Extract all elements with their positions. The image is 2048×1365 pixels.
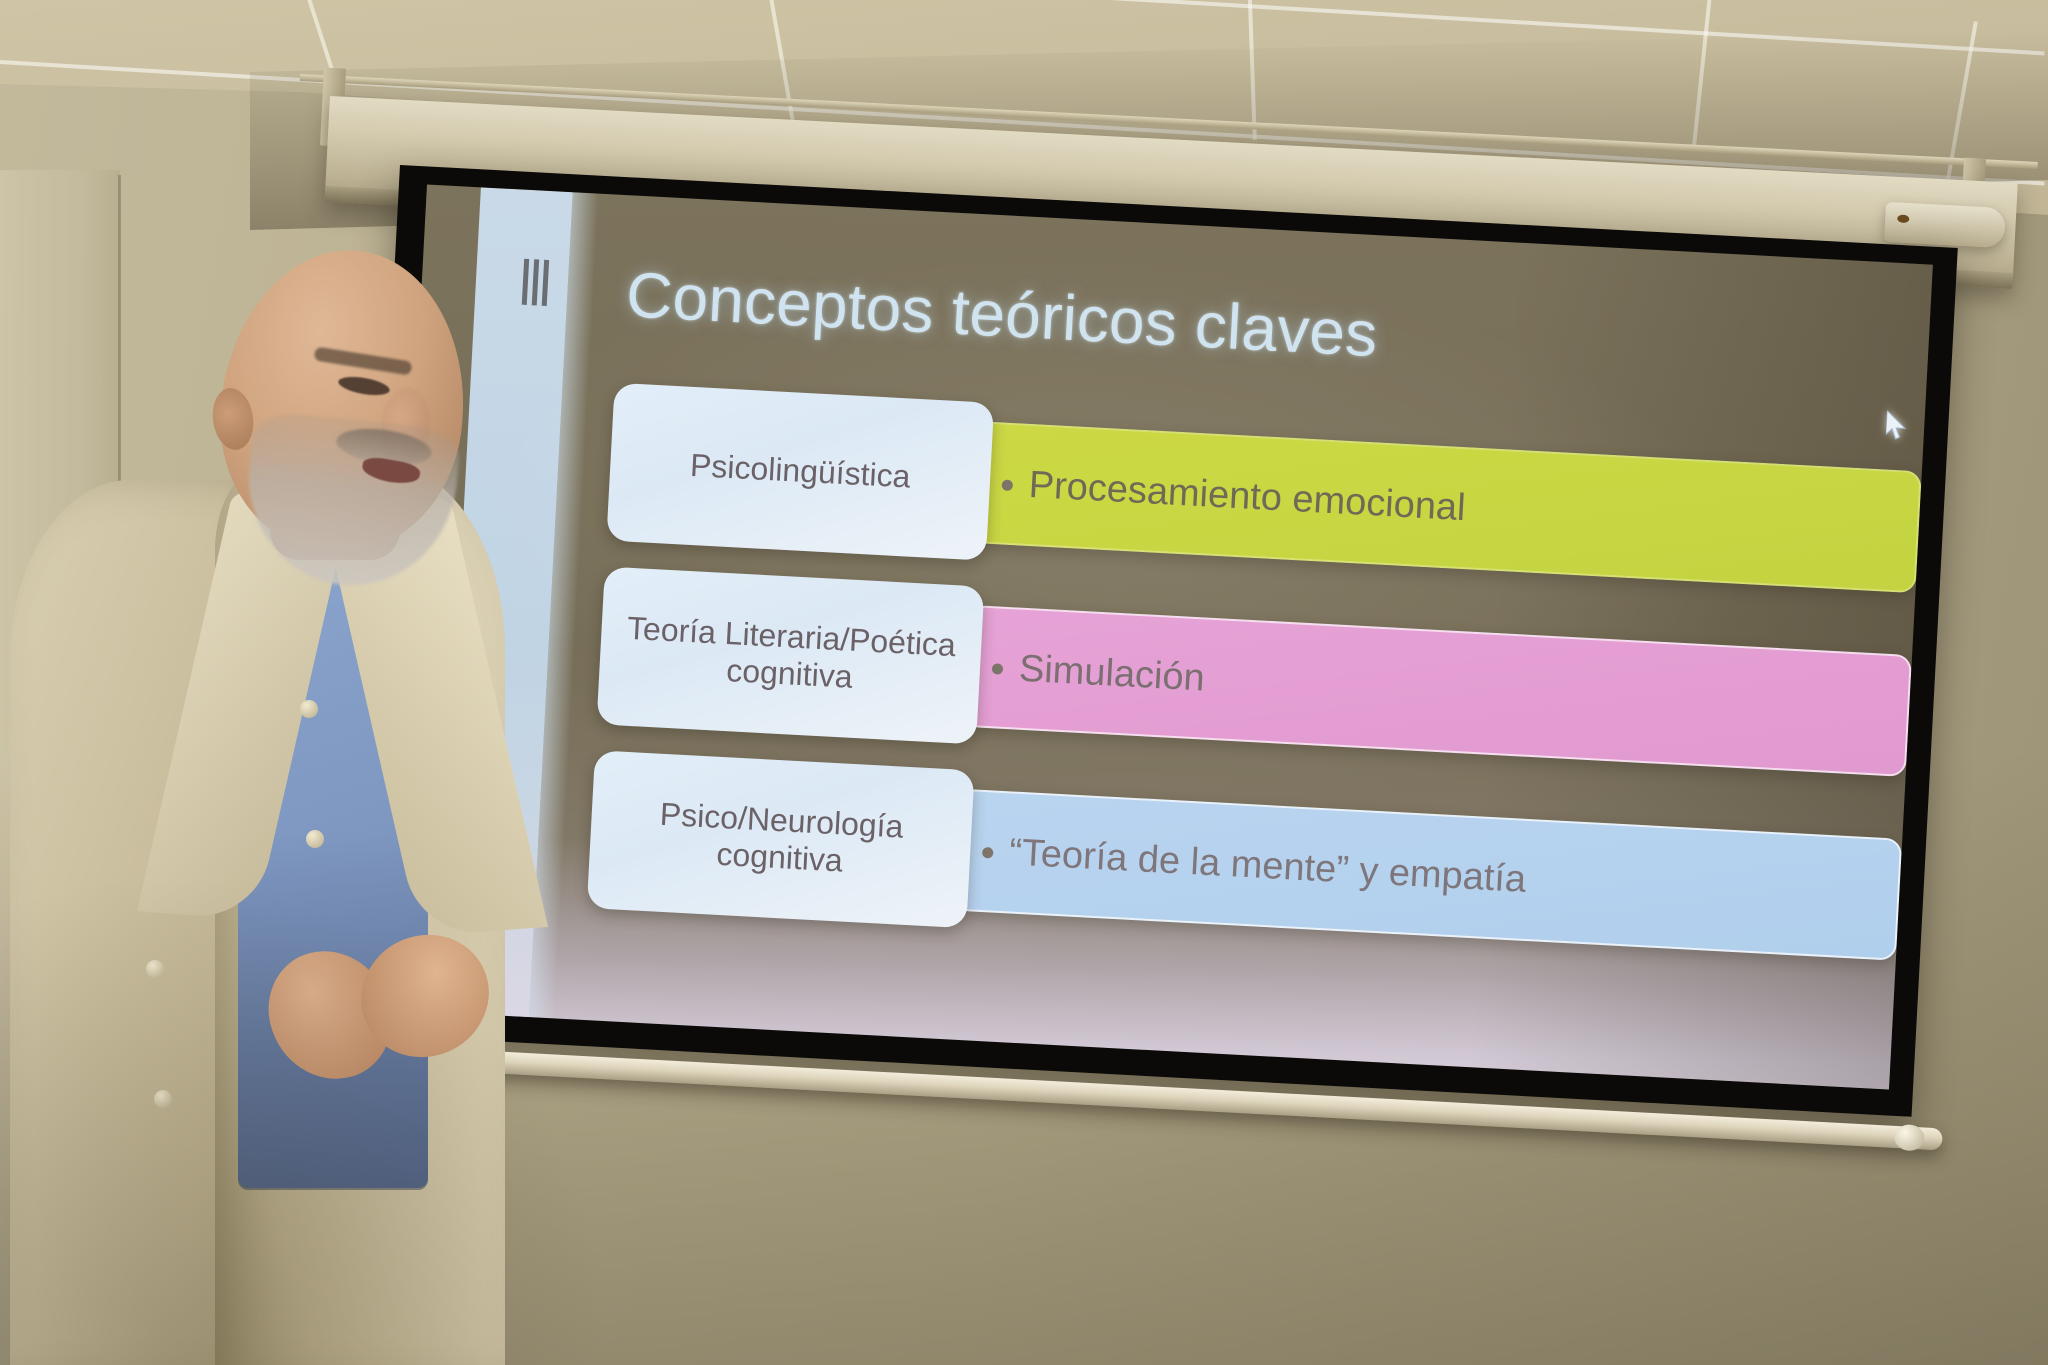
concept-row: Psico/Neurología cognitiva “Teoría de la… bbox=[587, 750, 1904, 977]
concept-value-box[interactable]: Procesamiento emocional bbox=[973, 421, 1922, 593]
slide-canvas: Conceptos teóricos claves Psicolingüísti… bbox=[383, 184, 1933, 1089]
concept-label-text: Teoría Literaria/Poética cognitiva bbox=[613, 609, 968, 702]
presentation-photo: Conceptos teóricos claves Psicolingüísti… bbox=[0, 0, 2048, 1365]
presenter-shirt-button bbox=[306, 830, 324, 848]
concept-label-box[interactable]: Psico/Neurología cognitiva bbox=[587, 750, 975, 928]
concept-label-text: Psico/Neurología cognitiva bbox=[603, 793, 958, 886]
concept-label-box[interactable]: Psicolingüística bbox=[606, 383, 994, 561]
concept-value-box[interactable]: “Teoría de la mente” y empatía bbox=[953, 789, 1902, 961]
presenter bbox=[0, 270, 610, 1365]
concept-value-box[interactable]: Simulación bbox=[963, 605, 1912, 777]
presenter-jacket-button bbox=[146, 960, 164, 978]
presenter-shirt-button bbox=[300, 700, 318, 718]
slide-title: Conceptos teóricos claves bbox=[624, 257, 1379, 371]
presenter-jacket-button bbox=[154, 1090, 172, 1108]
concept-label-text: Psicolingüística bbox=[689, 447, 911, 496]
bullet-icon bbox=[1002, 479, 1014, 491]
concept-label-box[interactable]: Teoría Literaria/Poética cognitiva bbox=[597, 566, 985, 744]
screen-motor-housing bbox=[1884, 202, 2006, 248]
concept-rows: Psicolingüística Procesamiento emocional… bbox=[585, 383, 1923, 1004]
bullet-icon bbox=[992, 663, 1004, 675]
status-led-icon bbox=[1897, 214, 1909, 223]
concept-value-text: Procesamiento emocional bbox=[1028, 463, 1467, 531]
bullet-icon bbox=[982, 846, 994, 858]
concept-value-text: “Teoría de la mente” y empatía bbox=[1008, 830, 1527, 902]
concept-value-text: Simulación bbox=[1018, 646, 1206, 700]
